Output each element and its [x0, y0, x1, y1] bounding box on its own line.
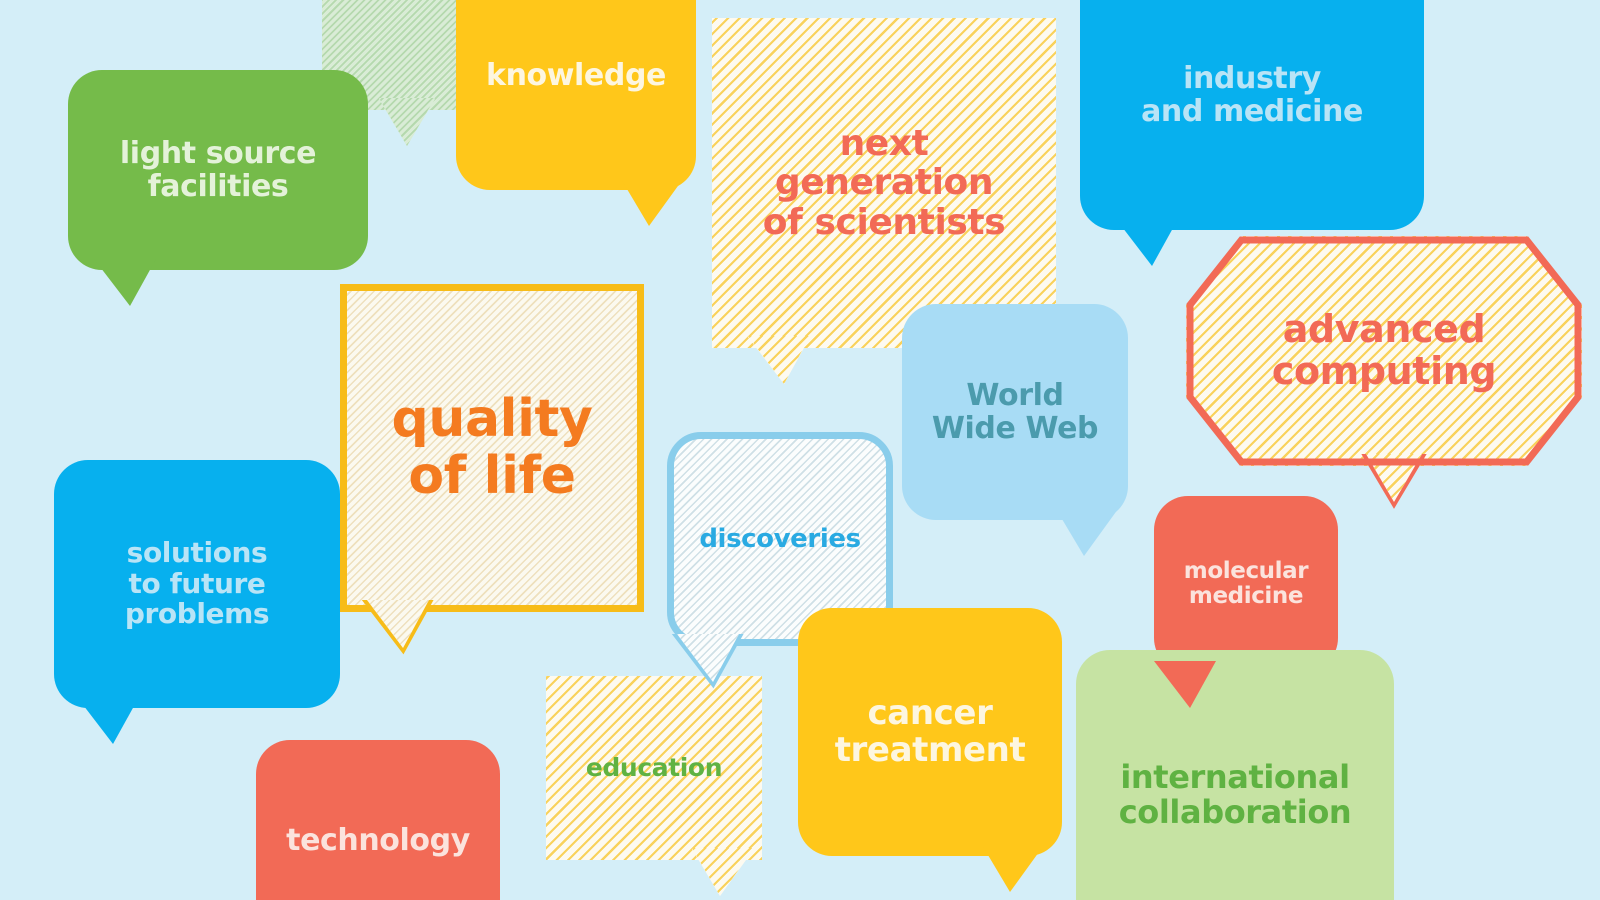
bubble-label: World Wide Web — [932, 379, 1098, 445]
bubble-label: quality of life — [392, 391, 593, 505]
bubble-label: cancer treatment — [835, 695, 1026, 770]
speech-bubble-molecular-medicine: molecular medicine — [1154, 496, 1338, 672]
bubble-label: knowledge — [486, 59, 666, 92]
bubble-label: advanced computing — [1272, 309, 1496, 393]
speech-bubble-technology: technology — [256, 740, 500, 900]
word-cloud-canvas: light source facilities knowledge next g… — [0, 0, 1600, 900]
speech-bubble-light-source-facilities: light source facilities — [68, 70, 368, 270]
bubble-label: molecular medicine — [1184, 559, 1308, 610]
speech-bubble-education: education — [546, 676, 762, 860]
speech-bubble-quality-of-life: quality of life — [340, 284, 644, 612]
speech-bubble-next-generation-of-scientists: next generation of scientists — [712, 18, 1056, 348]
speech-bubble-international-collaboration: international collaboration — [1076, 650, 1394, 900]
speech-bubble-knowledge: knowledge — [456, 0, 696, 190]
bubble-label: industry and medicine — [1141, 62, 1363, 128]
bubble-label: next generation of scientists — [763, 124, 1006, 243]
bubble-body — [456, 0, 696, 190]
bubble-label: technology — [286, 824, 470, 857]
speech-bubble-cancer-treatment: cancer treatment — [798, 608, 1062, 856]
bubble-label: education — [586, 754, 722, 782]
speech-bubble-industry-and-medicine: industry and medicine — [1080, 0, 1424, 230]
speech-bubble-solutions-to-future-problems: solutions to future problems — [54, 460, 340, 708]
speech-bubble-advanced-computing: advanced computing — [1186, 236, 1582, 466]
bubble-label: light source facilities — [120, 137, 316, 203]
bubble-label: international collaboration — [1119, 760, 1352, 830]
speech-bubble-world-wide-web: World Wide Web — [902, 304, 1128, 520]
bubble-label: discoveries — [699, 525, 860, 554]
bubble-label: solutions to future problems — [125, 538, 269, 630]
bubble-body — [256, 740, 500, 900]
